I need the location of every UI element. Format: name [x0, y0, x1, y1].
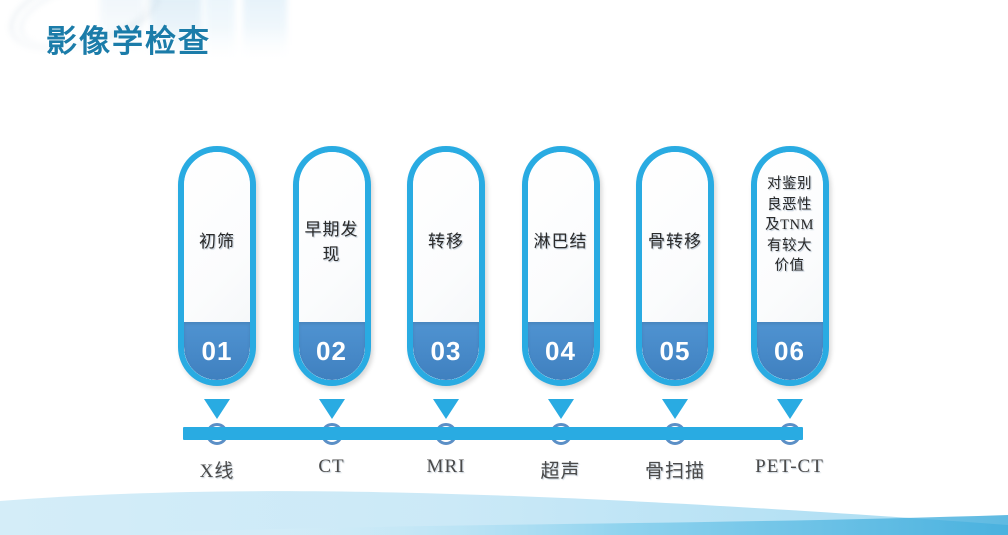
bottom-wave-decoration [0, 475, 1008, 535]
pointer-triangle-01 [204, 399, 230, 419]
process-capsule-02[interactable]: 早期发现02 [293, 146, 371, 386]
slide-canvas: 影像学检查 初筛01X线早期发现02CT转移03MRI淋巴结04超声骨转移05骨… [0, 0, 1008, 535]
capsule-text: 骨转移 [648, 152, 702, 332]
pointer-triangle-02 [319, 399, 345, 419]
timeline-bar [183, 427, 803, 440]
capsule-number-badge: 04 [528, 322, 594, 380]
process-capsule-04[interactable]: 淋巴结04 [522, 146, 600, 386]
pointer-triangle-05 [662, 399, 688, 419]
process-diagram: 初筛01X线早期发现02CT转移03MRI淋巴结04超声骨转移05骨扫描对鉴别良… [0, 0, 1008, 535]
capsule-number-badge: 02 [299, 322, 365, 380]
wave-svg [0, 475, 1008, 535]
capsule-text: 对鉴别良恶性及TNM有较大价值 [763, 152, 817, 334]
capsule-body: 淋巴结04 [528, 152, 594, 380]
capsule-body: 早期发现02 [299, 152, 365, 380]
pointer-triangle-03 [433, 399, 459, 419]
pointer-triangle-06 [777, 399, 803, 419]
capsule-text: 淋巴结 [534, 152, 588, 332]
capsule-number-badge: 06 [757, 322, 823, 380]
process-capsule-05[interactable]: 骨转移05 [636, 146, 714, 386]
pointer-triangle-04 [548, 399, 574, 419]
capsule-body: 对鉴别良恶性及TNM有较大价值06 [757, 152, 823, 380]
process-capsule-01[interactable]: 初筛01 [178, 146, 256, 386]
process-capsule-03[interactable]: 转移03 [407, 146, 485, 386]
process-capsule-06[interactable]: 对鉴别良恶性及TNM有较大价值06 [751, 146, 829, 386]
capsule-number-badge: 03 [413, 322, 479, 380]
capsule-body: 转移03 [413, 152, 479, 380]
capsule-text: 初筛 [190, 152, 244, 332]
capsule-number-badge: 01 [184, 322, 250, 380]
capsule-text: 早期发现 [305, 152, 359, 332]
capsule-body: 骨转移05 [642, 152, 708, 380]
capsule-body: 初筛01 [184, 152, 250, 380]
capsule-number-badge: 05 [642, 322, 708, 380]
capsule-text: 转移 [419, 152, 473, 332]
